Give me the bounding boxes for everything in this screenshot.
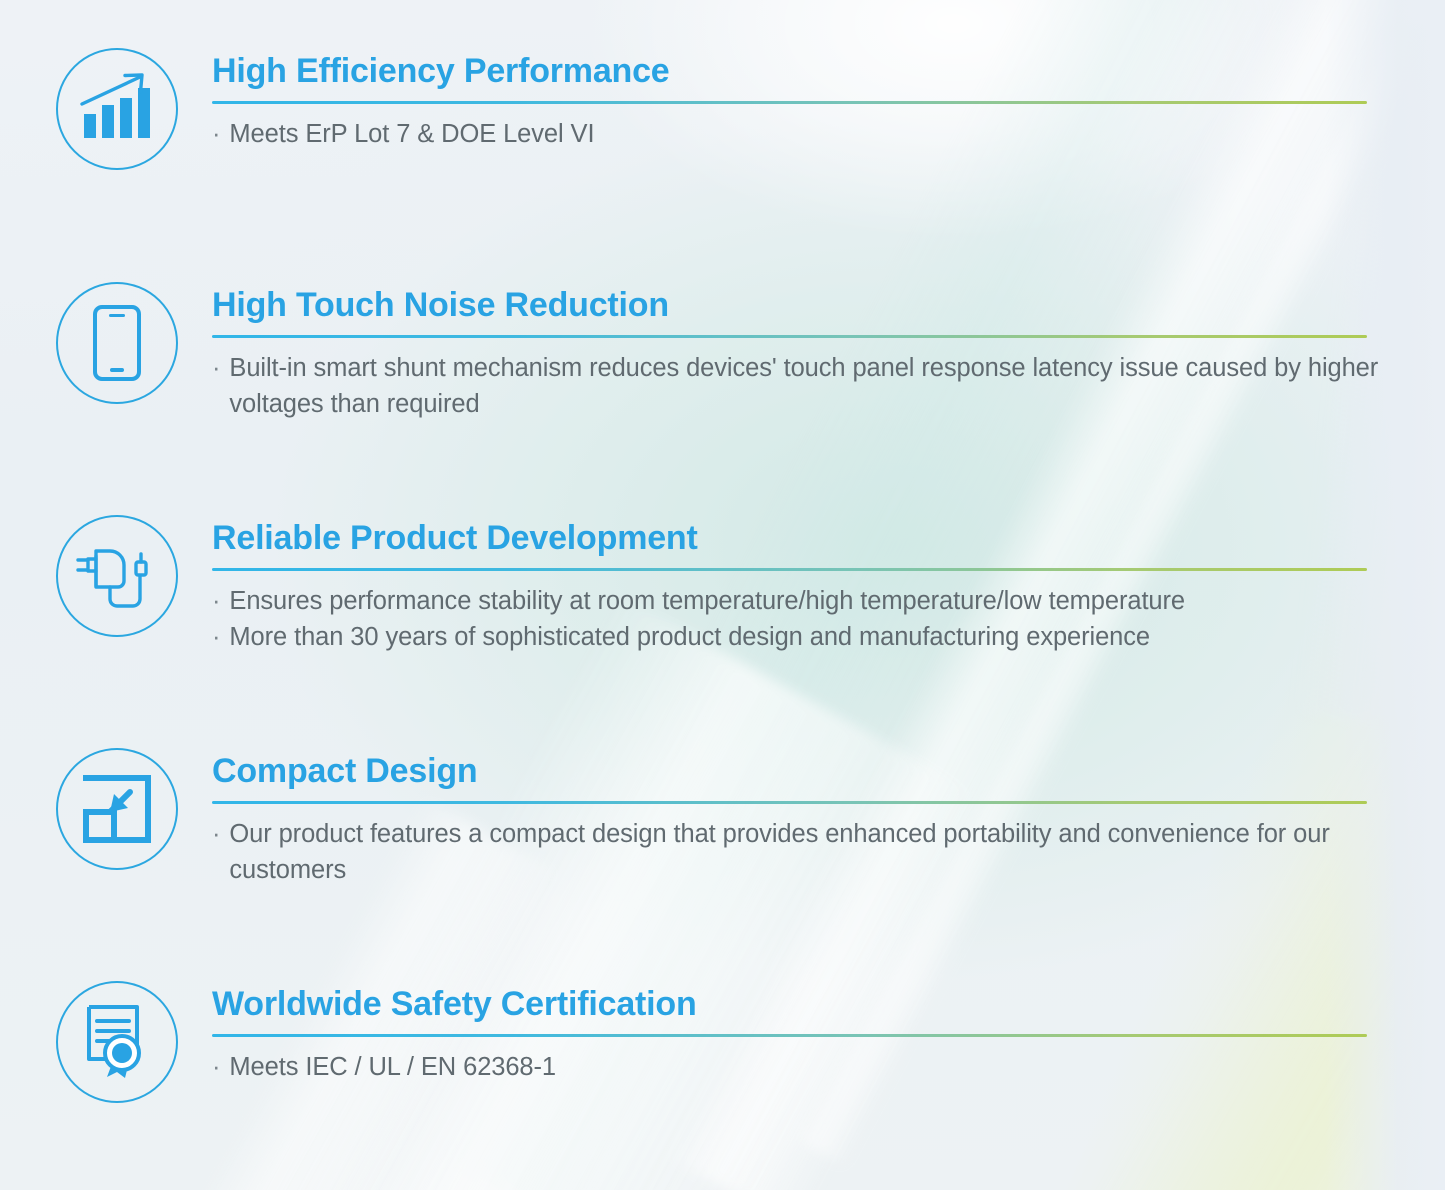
feature-bullets: · Meets IEC / UL / EN 62368-1 — [212, 1049, 1387, 1085]
feature-body: Compact Design · Our product features a … — [212, 746, 1387, 888]
bullet-text: More than 30 years of sophisticated prod… — [229, 619, 1387, 655]
smartphone-icon — [56, 282, 178, 404]
feature-divider — [212, 568, 1367, 571]
bullet-item: · Ensures performance stability at room … — [212, 583, 1387, 619]
feature-item: Compact Design · Our product features a … — [0, 746, 1445, 888]
bullet-item: · Meets IEC / UL / EN 62368-1 — [212, 1049, 1387, 1085]
feature-body: Worldwide Safety Certification · Meets I… — [212, 979, 1387, 1085]
bullet-marker: · — [212, 619, 220, 655]
bullet-text: Ensures performance stability at room te… — [229, 583, 1387, 619]
bullet-marker: · — [212, 350, 220, 386]
feature-body: High Touch Noise Reduction · Built-in sm… — [212, 280, 1387, 422]
bullet-text: Built-in smart shunt mechanism reduces d… — [229, 350, 1387, 422]
bullet-marker: · — [212, 816, 220, 852]
bar-chart-growth-icon — [56, 48, 178, 170]
feature-divider — [212, 101, 1367, 104]
feature-icon-wrap — [54, 979, 180, 1103]
feature-item: High Touch Noise Reduction · Built-in sm… — [0, 280, 1445, 422]
bullet-text: Meets ErP Lot 7 & DOE Level VI — [229, 116, 1387, 152]
bullet-marker: · — [212, 1049, 220, 1085]
feature-title: High Efficiency Performance — [212, 52, 1387, 90]
bullet-item: · Our product features a compact design … — [212, 816, 1387, 888]
bullet-item: · More than 30 years of sophisticated pr… — [212, 619, 1387, 655]
bullet-marker: · — [212, 116, 220, 152]
feature-bullets: · Ensures performance stability at room … — [212, 583, 1387, 655]
feature-title: Compact Design — [212, 752, 1387, 790]
bullet-text: Meets IEC / UL / EN 62368-1 — [229, 1049, 1387, 1085]
certificate-award-icon — [56, 981, 178, 1103]
compact-resize-icon — [56, 748, 178, 870]
bullet-marker: · — [212, 583, 220, 619]
feature-bullets: · Our product features a compact design … — [212, 816, 1387, 888]
feature-body: High Efficiency Performance · Meets ErP … — [212, 46, 1387, 152]
feature-divider — [212, 801, 1367, 804]
bullet-item: · Built-in smart shunt mechanism reduces… — [212, 350, 1387, 422]
feature-icon-wrap — [54, 513, 180, 637]
feature-title: Worldwide Safety Certification — [212, 985, 1387, 1023]
bullet-item: · Meets ErP Lot 7 & DOE Level VI — [212, 116, 1387, 152]
feature-item: Reliable Product Development · Ensures p… — [0, 513, 1445, 655]
power-adapter-icon — [56, 515, 178, 637]
feature-icon-wrap — [54, 746, 180, 870]
feature-item: High Efficiency Performance · Meets ErP … — [0, 46, 1445, 170]
bullet-text: Our product features a compact design th… — [229, 816, 1387, 888]
feature-divider — [212, 1034, 1367, 1037]
feature-icon-wrap — [54, 46, 180, 170]
feature-item: Worldwide Safety Certification · Meets I… — [0, 979, 1445, 1103]
feature-divider — [212, 335, 1367, 338]
feature-title: Reliable Product Development — [212, 519, 1387, 557]
feature-body: Reliable Product Development · Ensures p… — [212, 513, 1387, 655]
feature-icon-wrap — [54, 280, 180, 404]
feature-title: High Touch Noise Reduction — [212, 286, 1387, 324]
feature-bullets: · Meets ErP Lot 7 & DOE Level VI — [212, 116, 1387, 152]
feature-bullets: · Built-in smart shunt mechanism reduces… — [212, 350, 1387, 422]
feature-highlights-page: High Efficiency Performance · Meets ErP … — [0, 0, 1445, 1190]
